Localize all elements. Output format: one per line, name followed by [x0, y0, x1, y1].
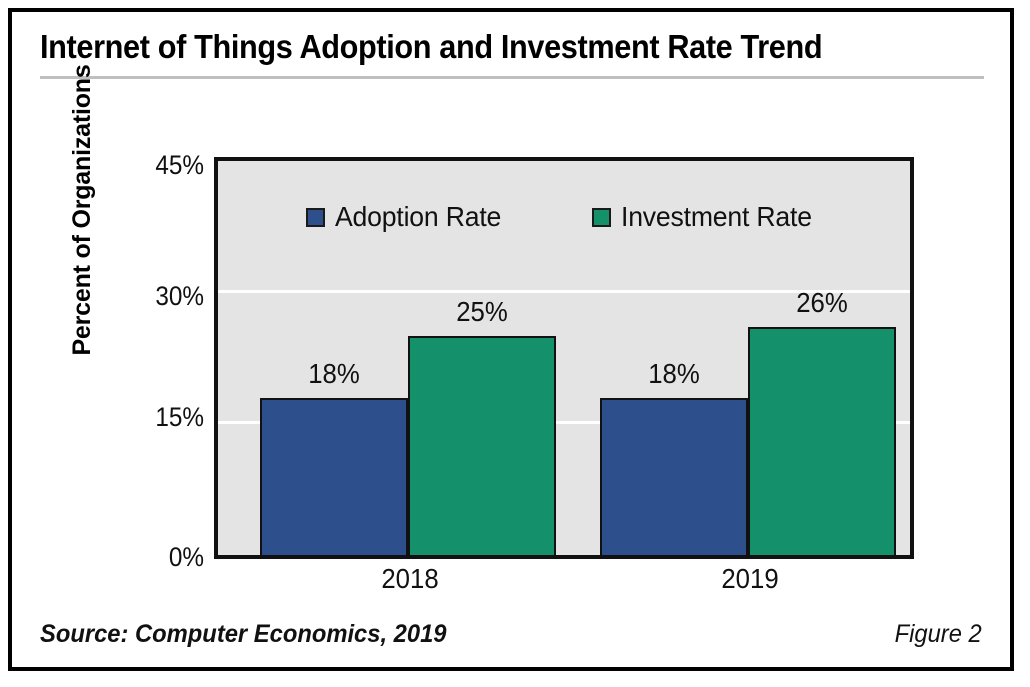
y-tick-label-30: 30% — [114, 283, 204, 310]
bar-label-2018-investment: 25% — [414, 298, 550, 326]
y-tick-label-0: 0% — [114, 544, 204, 571]
x-tick-label-2018: 2018 — [272, 565, 548, 593]
bar-2018-adoption-rate[interactable] — [260, 398, 408, 555]
x-axis-tick-labels: 2018 2019 — [214, 565, 914, 605]
bar-2019-adoption-rate[interactable] — [600, 398, 748, 555]
plot-inner: Adoption Rate Investment Rate 18% — [218, 161, 910, 555]
figure-number: Figure 2 — [895, 620, 982, 649]
bar-label-2019-adoption: 18% — [606, 360, 742, 388]
chart-area: Percent of Organizations 45% 30% 15% 0% … — [12, 12, 1010, 667]
bar-2019-investment-rate[interactable] — [748, 327, 896, 555]
bar-label-2018-adoption: 18% — [266, 360, 402, 388]
y-tick-label-15: 15% — [114, 404, 204, 431]
y-axis-title: Percent of Organizations — [62, 45, 102, 375]
y-axis-tick-labels: 45% 30% 15% 0% — [104, 144, 204, 580]
bar-2018-investment-rate[interactable] — [408, 336, 556, 555]
source-note: Source: Computer Economics, 2019 — [40, 620, 447, 649]
figure-footer: Source: Computer Economics, 2019 Figure … — [40, 620, 982, 649]
x-tick-label-2019: 2019 — [612, 565, 888, 593]
figure-card: Internet of Things Adoption and Investme… — [8, 8, 1014, 671]
y-tick-label-45: 45% — [114, 152, 204, 179]
bars-layer: 18% 25% 18% 26% — [218, 161, 910, 555]
plot-area: Adoption Rate Investment Rate 18% — [214, 157, 914, 559]
bar-label-2019-investment: 26% — [754, 289, 890, 317]
